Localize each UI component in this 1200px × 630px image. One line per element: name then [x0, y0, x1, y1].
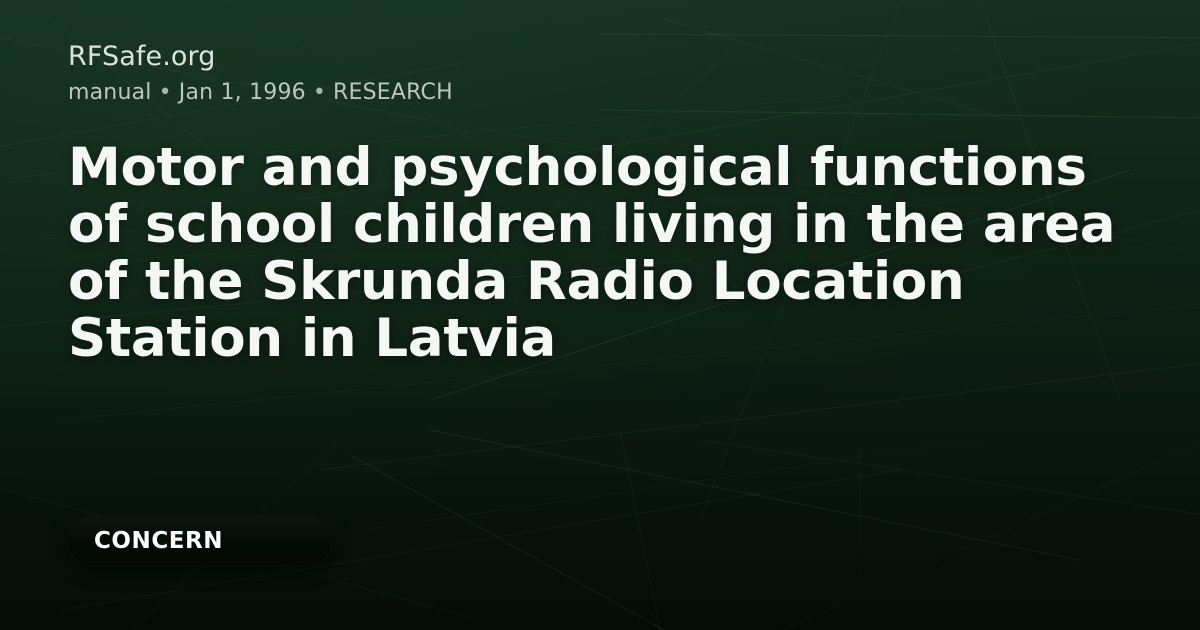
meta-separator-1: • — [152, 80, 179, 105]
meta-type: manual — [68, 80, 152, 105]
badge-row: CONCERN — [68, 516, 332, 565]
brand-name: RFSafe.org — [68, 41, 1132, 73]
status-badge-label: CONCERN — [94, 528, 223, 554]
og-card: RFSafe.org manual•Jan 1, 1996•RESEARCH M… — [0, 0, 1200, 630]
meta-separator-2: • — [306, 80, 333, 105]
status-badge: CONCERN — [68, 516, 332, 565]
meta-date: Jan 1, 1996 — [179, 80, 306, 105]
page-title: Motor and psychological functions of sch… — [68, 139, 1132, 367]
meta-line: manual•Jan 1, 1996•RESEARCH — [68, 79, 1132, 106]
meta-category: RESEARCH — [333, 80, 453, 105]
